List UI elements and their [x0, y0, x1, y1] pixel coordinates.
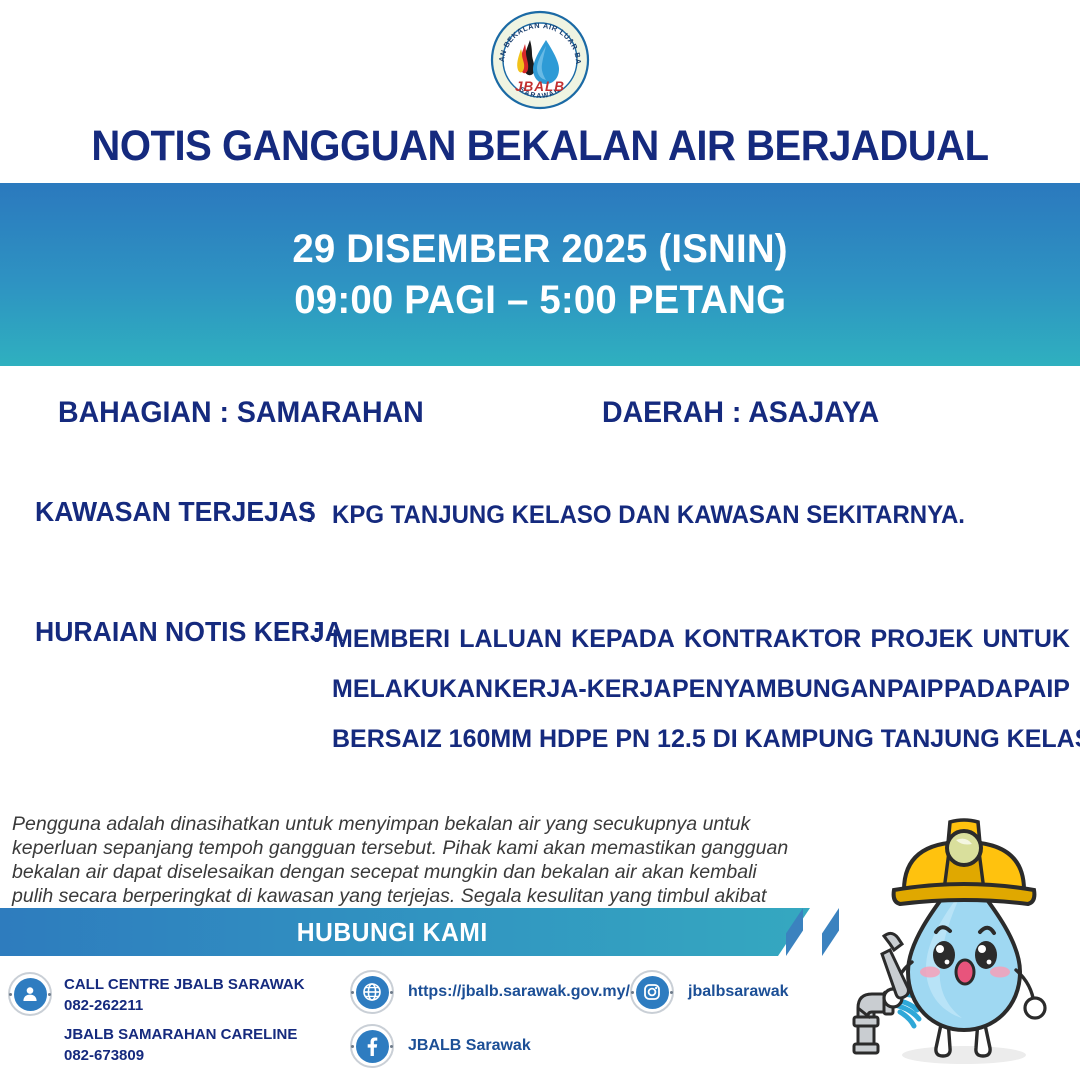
wrench-icon: [882, 933, 909, 998]
affected-area-label: KAWASAN TERJEJAS: [35, 496, 316, 528]
bahagian-text: BAHAGIAN : SAMARAHAN: [58, 396, 424, 430]
spacer: [64, 1016, 305, 1024]
work-description-line-2: MELAKUKAN KERJA-KERJA PENYAMBUNGAN PAIP …: [332, 664, 1070, 714]
date-time-banner: 29 DISEMBER 2025 (ISNIN) 09:00 PAGI – 5:…: [0, 183, 1080, 366]
facebook-handle[interactable]: JBALB Sarawak: [408, 1037, 531, 1055]
contact-banner: HUBUNGI KAMI: [0, 908, 810, 956]
work-description-label: HURAIAN NOTIS KERJA: [35, 616, 344, 648]
wd-word: KEPADA: [571, 614, 675, 664]
website-url[interactable]: https://jbalb.sarawak.gov.my/: [408, 983, 630, 1001]
daerah-text: DAERAH : ASAJAYA: [602, 396, 879, 430]
wd-word: PAIP: [1013, 664, 1070, 714]
mascot-svg: [838, 792, 1080, 1080]
careline-number[interactable]: 082-673809: [64, 1045, 305, 1066]
person-icon-glyph: [20, 984, 40, 1004]
wd-word: MEMBERI: [332, 614, 450, 664]
instagram-icon-glyph: [641, 981, 663, 1003]
facebook-icon: [350, 1024, 394, 1068]
notice-date: 29 DISEMBER 2025 (ISNIN): [292, 227, 787, 272]
wd-word: PENYAMBUNGAN: [672, 664, 886, 714]
banner-stripe-decoration: [822, 908, 839, 956]
work-description-line-1: MEMBERI LALUAN KEPADA KONTRAKTOR PROJEK …: [332, 614, 1070, 664]
svg-text:JBALB: JBALB: [515, 79, 565, 94]
water-droplet-mascot: [838, 792, 1080, 1080]
affected-area-colon: :: [305, 497, 314, 529]
instagram-icon: [630, 970, 674, 1014]
affected-area-value: KPG TANJUNG KELASO DAN KAWASAN SEKITARNY…: [332, 501, 965, 530]
division-district-row: BAHAGIAN : SAMARAHAN DAERAH : ASAJAYA: [0, 396, 1080, 436]
call-centre-number[interactable]: 082-262211: [64, 995, 305, 1016]
wd-word: LALUAN: [459, 614, 562, 664]
wd-word: KERJA-KERJA: [494, 664, 672, 714]
wd-word: UNTUK: [982, 614, 1070, 664]
wd-word: MELAKUKAN: [332, 664, 493, 714]
instagram-handle[interactable]: jbalbsarawak: [688, 983, 789, 1001]
careline-label: JBALB SAMARAHAN CARELINE: [64, 1024, 305, 1045]
jbalb-logo-svg: JABATAN BEKALAN AIR LUAR BANDAR SARAWAK …: [490, 10, 590, 110]
work-description-line-3: BERSAIZ 160MM HDPE PN 12.5 DI KAMPUNG TA…: [332, 714, 1070, 764]
call-centre-text: CALL CENTRE JBALB SARAWAK 082-262211 JBA…: [64, 972, 305, 1066]
call-centre-label: CALL CENTRE JBALB SARAWAK: [64, 974, 305, 995]
wd-word: PADA: [944, 664, 1013, 714]
page-title: NOTIS GANGGUAN BEKALAN AIR BERJADUAL: [38, 122, 1042, 171]
jbalb-logo: JABATAN BEKALAN AIR LUAR BANDAR SARAWAK …: [490, 10, 590, 110]
website-row[interactable]: https://jbalb.sarawak.gov.my/: [350, 970, 630, 1014]
work-description-colon: :: [312, 617, 321, 649]
wd-word: PAIP: [887, 664, 944, 714]
globe-icon: [350, 970, 394, 1014]
globe-icon-glyph: [361, 981, 383, 1003]
person-icon: [8, 972, 52, 1016]
instagram-row[interactable]: jbalbsarawak: [630, 970, 789, 1014]
call-centre-block: CALL CENTRE JBALB SARAWAK 082-262211 JBA…: [8, 972, 305, 1066]
work-description-body: MEMBERI LALUAN KEPADA KONTRAKTOR PROJEK …: [332, 614, 1070, 764]
notice-poster: JABATAN BEKALAN AIR LUAR BANDAR SARAWAK …: [0, 0, 1080, 1080]
facebook-row[interactable]: JBALB Sarawak: [350, 1024, 531, 1068]
notice-time: 09:00 PAGI – 5:00 PETANG: [294, 278, 786, 323]
facebook-icon-glyph: [361, 1035, 383, 1057]
wd-word: KONTRAKTOR: [684, 614, 861, 664]
wd-word: PROJEK: [870, 614, 973, 664]
contact-banner-label: HUBUNGI KAMI: [296, 917, 487, 948]
